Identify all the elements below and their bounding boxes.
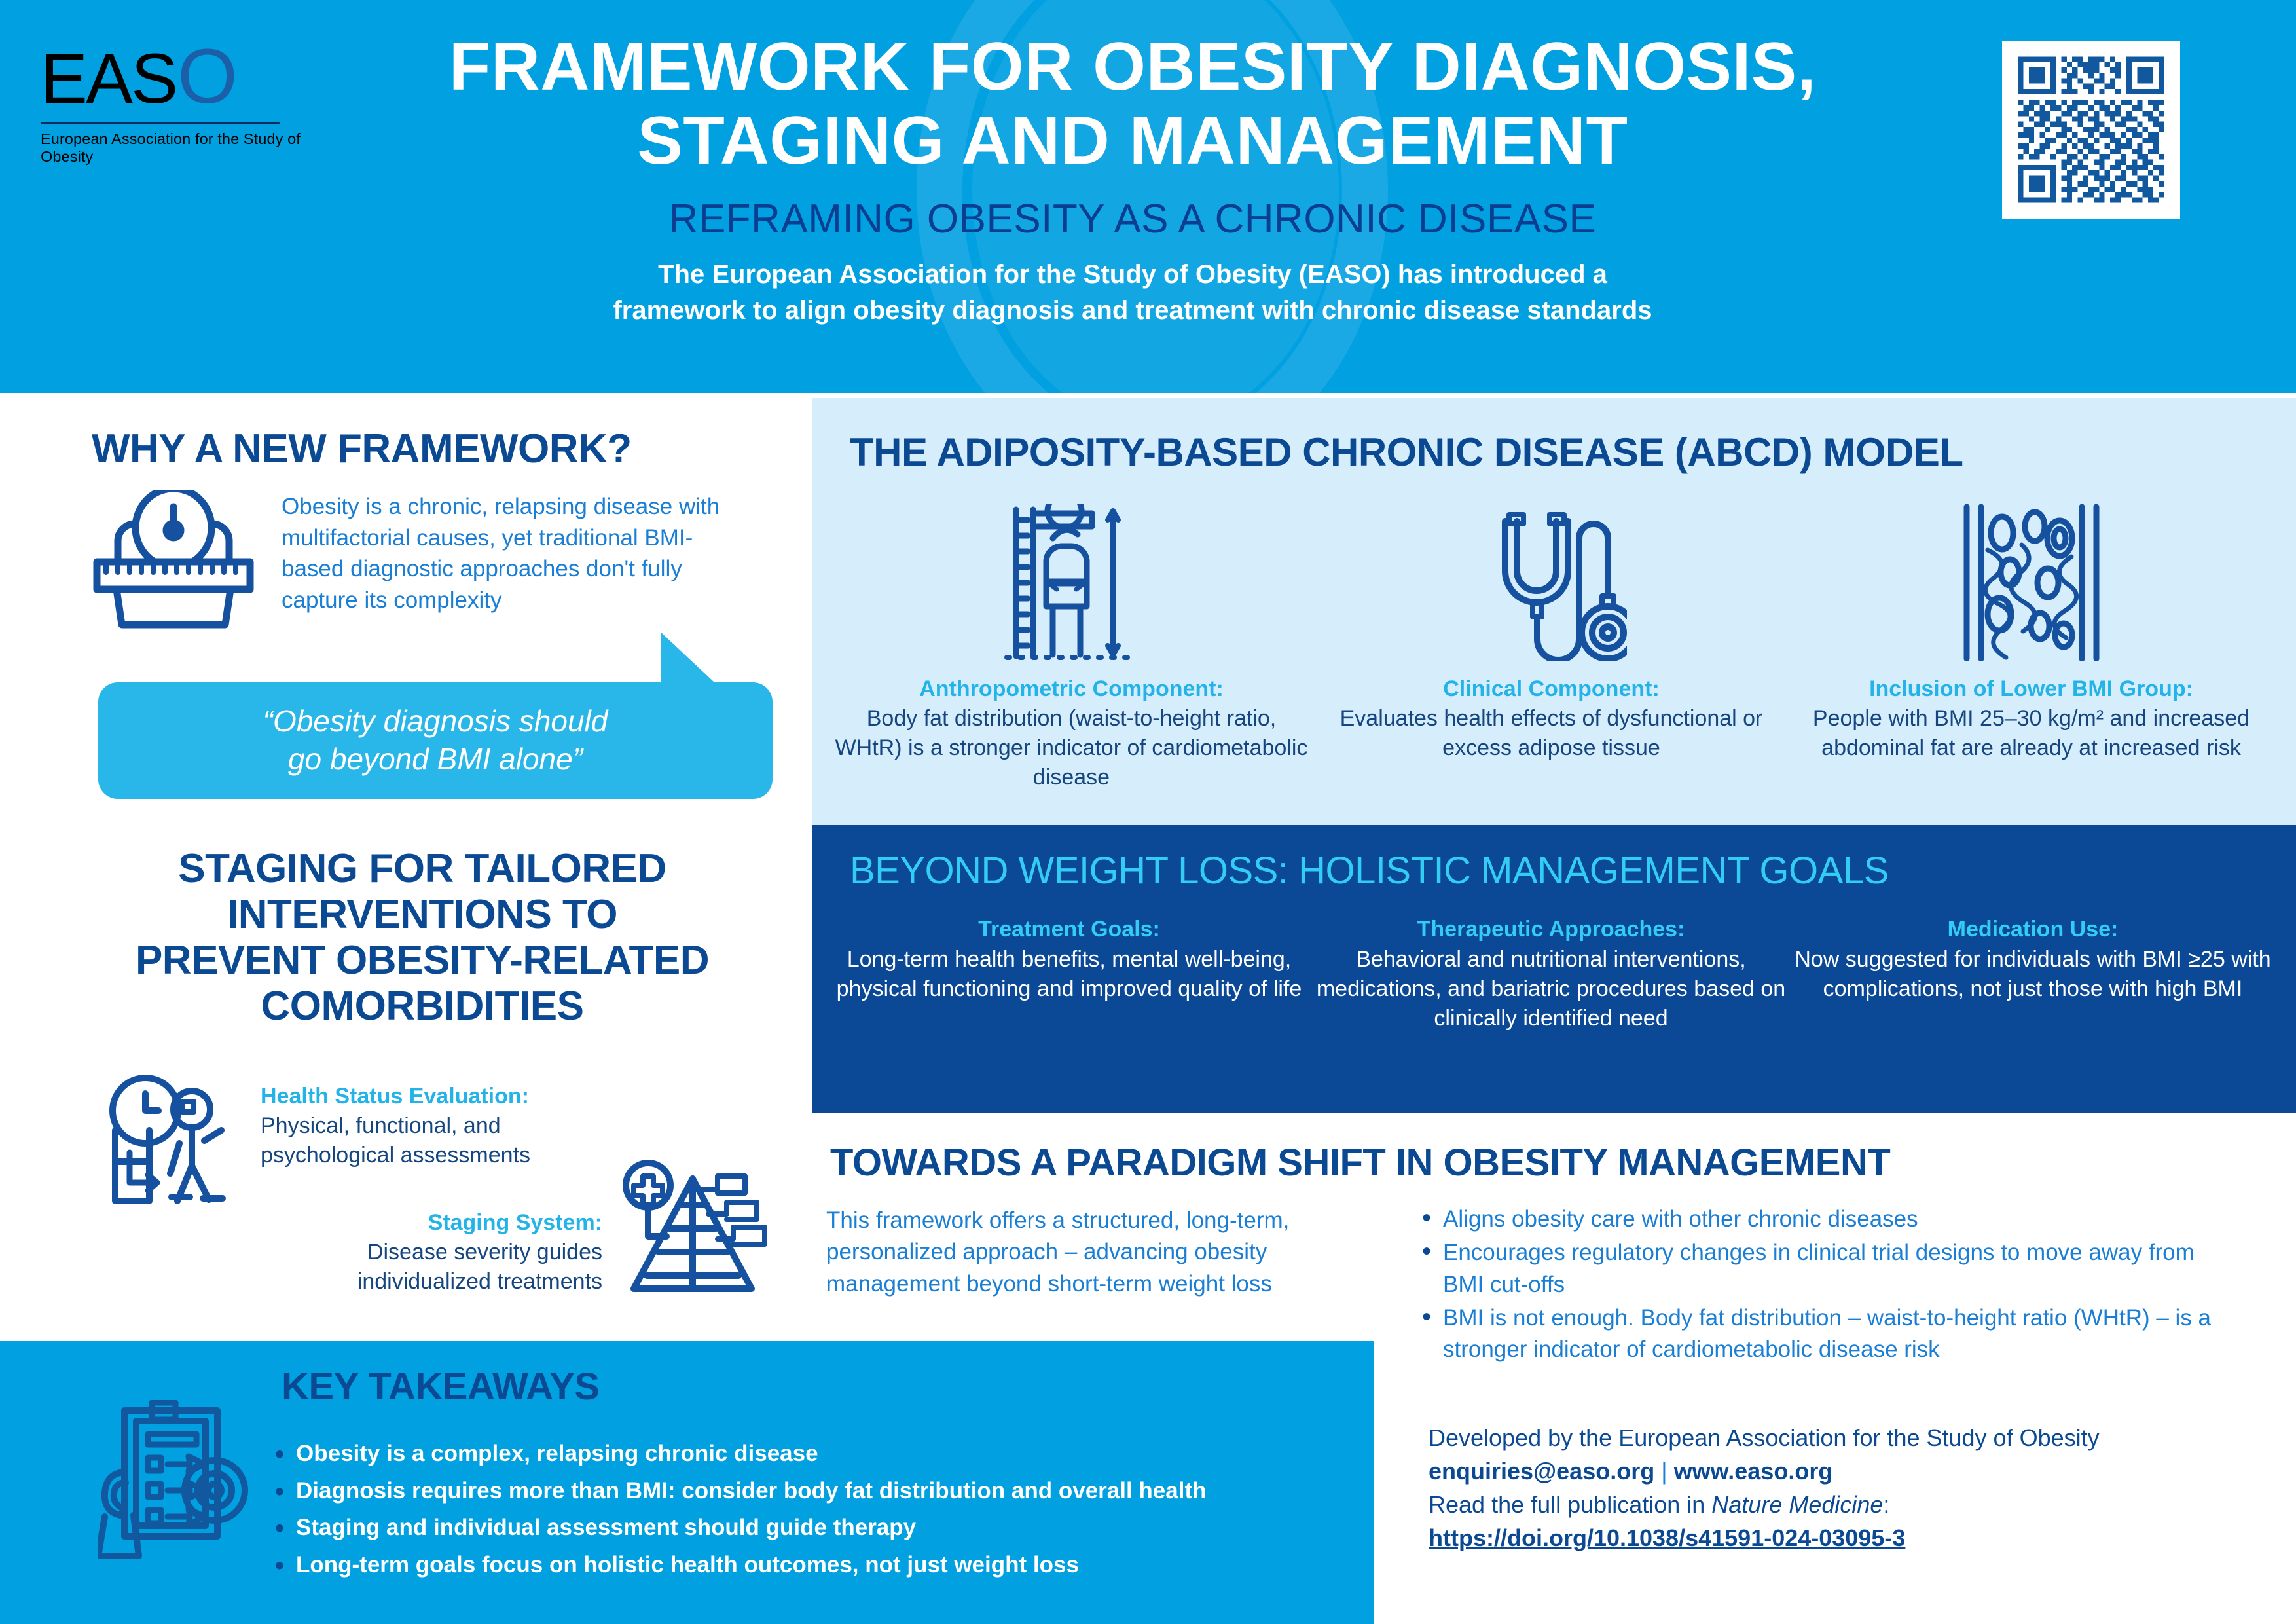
footer-credits: Developed by the European Association fo…: [1429, 1421, 2280, 1555]
beyond-label-therapeutic-approaches: Therapeutic Approaches:: [1310, 917, 1792, 942]
qr-code-icon[interactable]: [2002, 41, 2180, 219]
logo-subtitle: European Association for the Study of Ob…: [41, 130, 302, 166]
page-header: EAS O European Association for the Study…: [0, 0, 2296, 393]
list-item: Obesity is a complex, relapsing chronic …: [274, 1435, 1334, 1473]
list-item: Aligns obesity care with other chronic d…: [1421, 1204, 2239, 1235]
logo-text-eas: EAS: [41, 43, 176, 114]
key-takeaways-title: KEY TAKEAWAYS: [282, 1365, 600, 1409]
staging-system-item: Staging System: Disease severity guides …: [255, 1208, 602, 1297]
staging-title-line4: COMORBIDITIES: [72, 984, 773, 1029]
footer-journal-name: Nature Medicine: [1711, 1491, 1883, 1518]
page-title-line1: FRAMEWORK FOR OBESITY DIAGNOSIS,: [314, 30, 1951, 104]
quote-line2: go beyond BMI alone”: [263, 741, 608, 779]
paradigm-shift-intro: This framework offers a structured, long…: [826, 1205, 1389, 1300]
page-subtitle: REFRAMING OBESITY AS A CHRONIC DISEASE: [314, 196, 1951, 242]
key-takeaways-list: Obesity is a complex, relapsing chronic …: [274, 1435, 1334, 1584]
beyond-body-therapeutic-approaches: Behavioral and nutritional interventions…: [1310, 945, 1792, 1033]
beyond-column-medication-use: Medication Use: Now suggested for indivi…: [1792, 917, 2274, 1033]
clipboard-target-icon: [98, 1400, 249, 1570]
staging-pyramid-icon: [621, 1151, 778, 1302]
patient-assessment-icon: [98, 1073, 249, 1220]
beyond-column-therapeutic-approaches: Therapeutic Approaches: Behavioral and n…: [1310, 917, 1792, 1033]
footer-email-link[interactable]: enquiries@easo.org: [1429, 1458, 1654, 1485]
list-item: Staging and individual assessment should…: [274, 1509, 1334, 1547]
footer-separator: |: [1661, 1458, 1667, 1485]
footer-doi-link[interactable]: https://doi.org/10.1038/s41591-024-03095…: [1429, 1521, 2280, 1555]
abcd-column-anthropometric: Anthropometric Component: Body fat distr…: [831, 498, 1311, 792]
staging-title-line1: STAGING FOR TAILORED: [72, 846, 773, 892]
page-title-line2: STAGING AND MANAGEMENT: [314, 104, 1951, 178]
logo-text-o: O: [177, 38, 237, 115]
abcd-model-panel: THE ADIPOSITY-BASED CHRONIC DISEASE (ABC…: [812, 398, 2296, 825]
list-item: Encourages regulatory changes in clinica…: [1421, 1237, 2239, 1301]
beyond-body-medication-use: Now suggested for individuals with BMI ≥…: [1792, 945, 2274, 1004]
paradigm-shift-title: TOWARDS A PARADIGM SHIFT IN OBESITY MANA…: [830, 1141, 1890, 1185]
abcd-body-clinical: Evaluates health effects of dysfunctiona…: [1340, 706, 1763, 760]
abcd-column-clinical: Clinical Component: Evaluates health eff…: [1311, 498, 1791, 792]
beyond-weight-loss-title: BEYOND WEIGHT LOSS: HOLISTIC MANAGEMENT …: [850, 849, 1889, 893]
weighing-scale-icon: [92, 490, 255, 631]
adipose-tissue-icon: [1791, 498, 2271, 661]
abcd-body-anthropometric: Body fat distribution (waist-to-height r…: [835, 706, 1308, 790]
footer-read-suffix: :: [1883, 1491, 1889, 1518]
why-framework-title: WHY A NEW FRAMEWORK?: [92, 426, 786, 472]
staging-system-body: Disease severity guides individualized t…: [357, 1240, 602, 1294]
why-framework-body: Obesity is a chronic, relapsing disease …: [282, 491, 733, 616]
paradigm-shift-list: Aligns obesity care with other chronic d…: [1421, 1204, 2239, 1367]
header-text-block: FRAMEWORK FOR OBESITY DIAGNOSIS, STAGING…: [314, 30, 1951, 329]
staging-title-line3: PREVENT OBESITY-RELATED: [72, 938, 773, 984]
logo-divider: [41, 122, 280, 124]
beyond-weight-loss-panel: BEYOND WEIGHT LOSS: HOLISTIC MANAGEMENT …: [812, 825, 2296, 1113]
beyond-column-treatment-goals: Treatment Goals: Long-term health benefi…: [828, 917, 1310, 1033]
easo-logo: EAS O European Association for the Study…: [41, 38, 302, 166]
quote-line1: “Obesity diagnosis should: [263, 703, 608, 741]
quote-bubble: “Obesity diagnosis should go beyond BMI …: [98, 682, 773, 799]
abcd-label-clinical: Clinical Component:: [1311, 674, 1791, 704]
abcd-model-title: THE ADIPOSITY-BASED CHRONIC DISEASE (ABC…: [850, 430, 1963, 475]
abcd-label-lower-bmi: Inclusion of Lower BMI Group:: [1791, 674, 2271, 704]
abcd-body-lower-bmi: People with BMI 25–30 kg/m² and increase…: [1813, 706, 2250, 760]
header-description-line1: The European Association for the Study o…: [314, 257, 1951, 293]
health-status-evaluation-body: Physical, functional, and psychological …: [261, 1113, 530, 1168]
beyond-label-medication-use: Medication Use:: [1792, 917, 2274, 942]
footer-developed-by: Developed by the European Association fo…: [1429, 1421, 2280, 1454]
staging-title-line2: INTERVENTIONS TO: [72, 892, 773, 938]
stethoscope-icon: [1311, 498, 1791, 661]
staging-system-label: Staging System:: [255, 1208, 602, 1238]
list-item: BMI is not enough. Body fat distribution…: [1421, 1302, 2239, 1366]
beyond-body-treatment-goals: Long-term health benefits, mental well-b…: [828, 945, 1310, 1004]
footer-read-prefix: Read the full publication in: [1429, 1491, 1711, 1518]
list-item: Long-term goals focus on holistic health…: [274, 1547, 1334, 1584]
abcd-label-anthropometric: Anthropometric Component:: [831, 674, 1311, 704]
footer-website-link[interactable]: www.easo.org: [1674, 1458, 1833, 1485]
staging-title: STAGING FOR TAILORED INTERVENTIONS TO PR…: [72, 846, 773, 1029]
header-description-line2: framework to align obesity diagnosis and…: [314, 293, 1951, 329]
abcd-column-lower-bmi: Inclusion of Lower BMI Group: People wit…: [1791, 498, 2271, 792]
beyond-label-treatment-goals: Treatment Goals:: [828, 917, 1310, 942]
health-status-evaluation-item: Health Status Evaluation: Physical, func…: [261, 1082, 601, 1171]
health-status-evaluation-label: Health Status Evaluation:: [261, 1082, 601, 1111]
body-measurement-icon: [831, 498, 1311, 661]
list-item: Diagnosis requires more than BMI: consid…: [274, 1473, 1334, 1510]
